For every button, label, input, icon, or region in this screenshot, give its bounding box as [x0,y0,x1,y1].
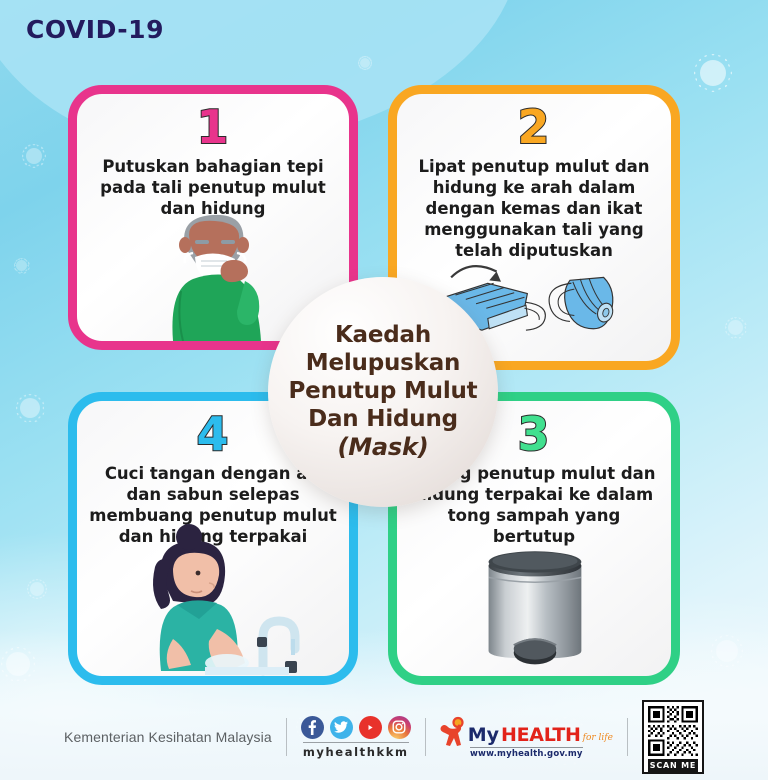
covered-trash-bin-icon [397,531,671,676]
center-title-line-4: Dan Hidung [308,405,458,433]
divider [286,718,287,756]
ministry-label: Kementerian Kesihatan Malaysia [64,729,272,745]
page-title: COVID-19 [26,15,164,44]
divider [425,718,426,756]
social-block: myhealthkkm [301,716,411,759]
social-row [301,716,411,739]
center-title-line-1: Kaedah [335,321,431,349]
myhealth-figure-icon [440,716,466,746]
virus-particle-icon [360,58,370,68]
center-subtitle: (Mask) [337,433,428,462]
virus-particle-icon [20,398,40,418]
myhealth-logo[interactable]: My HEALTH for life www.myhealth.gov.my [440,716,613,759]
myhealth-tagline: for life [583,733,613,743]
myhealth-wordmark: My HEALTH for life [440,716,613,746]
qr-code-block[interactable]: SCAN ME [642,700,704,774]
qr-code-icon [648,706,698,756]
virus-particle-icon [6,652,30,676]
youtube-icon[interactable] [359,716,382,739]
woman-washing-hands-icon [77,516,349,676]
step-number-4: 4 [196,411,229,457]
step-text-2: Lipat penutup mulut dan hidung ke arah d… [397,150,671,262]
center-title-line-2: Melupuskan [306,349,460,377]
virus-particle-icon [16,260,27,271]
myhealth-url: www.myhealth.gov.my [470,747,583,759]
virus-particle-icon [30,582,44,596]
virus-particle-icon [716,640,738,662]
social-handle: myhealthkkm [303,742,409,759]
divider [627,718,628,756]
footer: Kementerian Kesihatan Malaysia myhealthk… [0,694,768,780]
instagram-icon[interactable] [388,716,411,739]
center-title-line-3: Penutup Mulut [289,377,478,405]
step-number-1: 1 [196,104,229,150]
twitter-icon[interactable] [330,716,353,739]
virus-particle-icon [700,60,726,86]
scan-me-label: SCAN ME [648,759,698,772]
step-number-3: 3 [517,411,550,457]
center-title-circle: Kaedah Melupuskan Penutup Mulut Dan Hidu… [268,277,498,507]
infographic-canvas: COVID-19 1 Putuskan bahagian tepi pada t… [0,0,768,780]
step-number-2: 2 [517,104,550,150]
myhealth-name-part2: HEALTH [501,724,581,746]
myhealth-name-part1: My [468,724,499,746]
facebook-icon[interactable] [301,716,324,739]
virus-particle-icon [26,148,42,164]
virus-particle-icon [728,320,743,335]
